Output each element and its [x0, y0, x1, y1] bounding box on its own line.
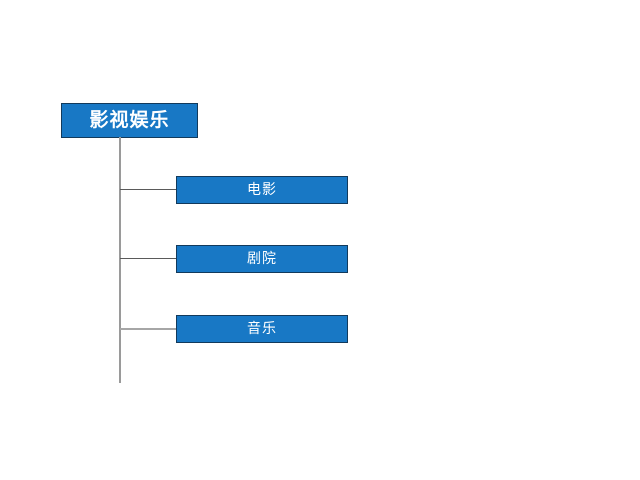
- child-node-label: 剧院: [247, 252, 277, 266]
- child-node-theater[interactable]: 剧院: [176, 245, 348, 273]
- root-node-label: 影视娱乐: [89, 111, 169, 130]
- root-node[interactable]: 影视娱乐: [61, 103, 198, 138]
- branch-connector-line-1: [120, 189, 177, 190]
- trunk-connector-line: [119, 137, 121, 383]
- child-node-label: 电影: [247, 183, 277, 197]
- branch-connector-line-3: [120, 328, 177, 330]
- child-node-label: 音乐: [247, 322, 277, 336]
- diagram-canvas: 影视娱乐 电影 剧院 音乐: [0, 0, 640, 480]
- branch-connector-line-2: [120, 258, 177, 259]
- child-node-movies[interactable]: 电影: [176, 176, 348, 204]
- child-node-music[interactable]: 音乐: [176, 315, 348, 343]
